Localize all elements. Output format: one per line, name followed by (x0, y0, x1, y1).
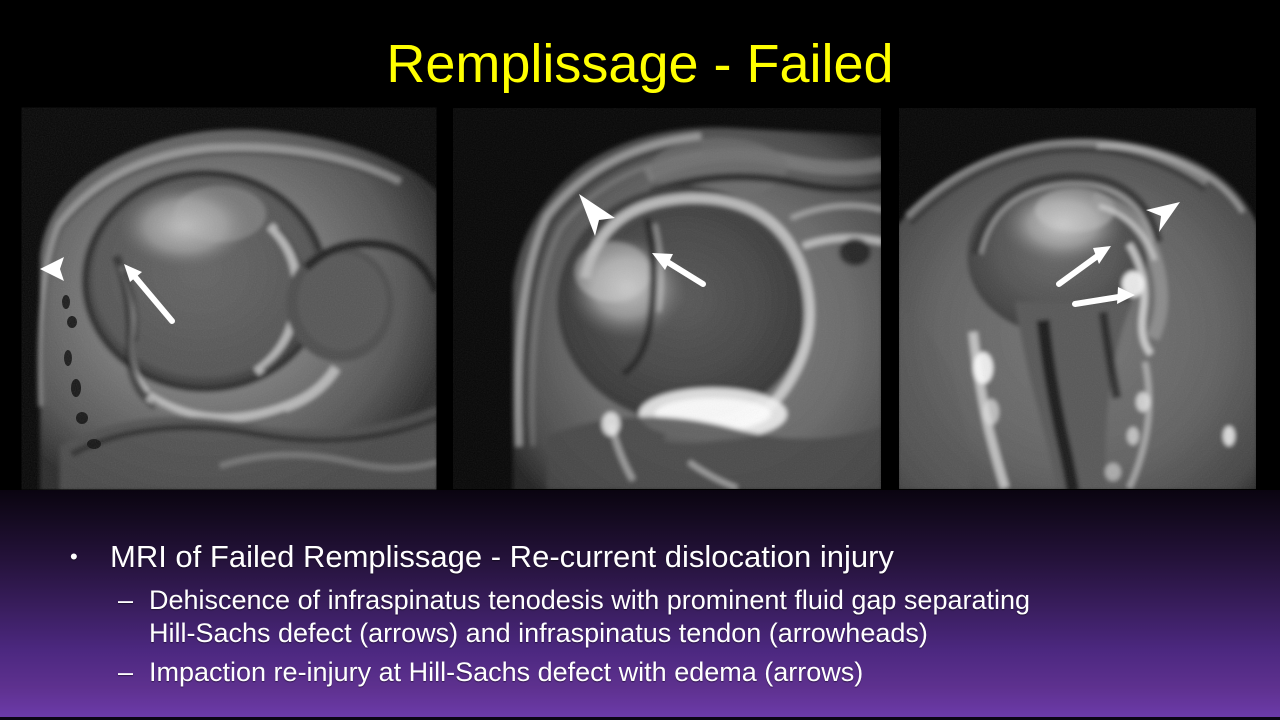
bullet-text: Impaction re-injury at Hill-Sachs defect… (149, 656, 863, 689)
coronal-mri-image (897, 106, 1258, 491)
sagittal-mri-image (451, 106, 883, 491)
bullet-text: Dehiscence of infraspinatus tenodesis wi… (149, 584, 1030, 650)
bullet-marker: – (118, 656, 149, 689)
coronal-mri-panel[interactable] (897, 106, 1258, 491)
bullet-list: • MRI of Failed Remplissage - Re-current… (0, 490, 1280, 720)
list-item: – Dehiscence of infraspinatus tenodesis … (118, 584, 1030, 650)
title-bar: Remplissage - Failed (0, 0, 1280, 104)
list-item: – Impaction re-injury at Hill-Sachs defe… (118, 656, 863, 689)
axial-mri-image (20, 106, 438, 491)
axial-mri-panel[interactable] (20, 106, 438, 491)
mri-image-strip (0, 104, 1280, 494)
sagittal-mri-panel[interactable] (451, 106, 883, 491)
list-item: • MRI of Failed Remplissage - Re-current… (70, 538, 894, 576)
page-title: Remplissage - Failed (0, 34, 1280, 94)
presentation-slide: Remplissage - Failed (0, 0, 1280, 720)
bullet-marker: • (70, 538, 110, 576)
bullet-marker: – (118, 584, 149, 617)
bullet-text: MRI of Failed Remplissage - Re-current d… (110, 538, 894, 576)
body-content-panel: • MRI of Failed Remplissage - Re-current… (0, 490, 1280, 720)
